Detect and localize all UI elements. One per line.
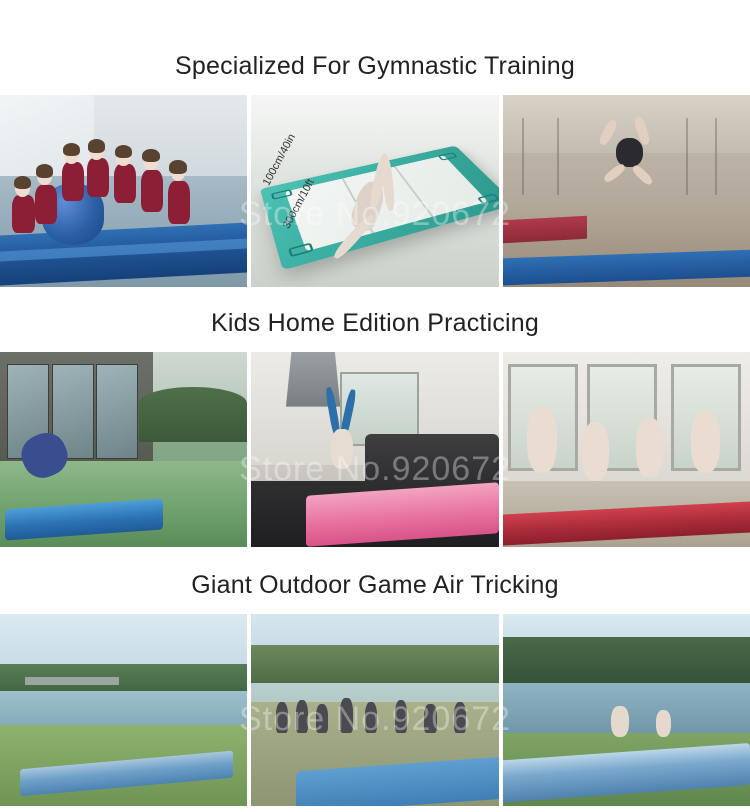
wall-bar [686, 118, 688, 195]
bridge [25, 677, 119, 685]
gymnast-hair [36, 164, 53, 177]
girl-handstand [316, 387, 370, 492]
child-jumping [582, 422, 609, 481]
product-detail-page: Specialized For Gymnastic Training [0, 0, 750, 812]
image-park-crowd-blue-pool [251, 614, 498, 806]
section-title-kids-home-edition: Kids Home Edition Practicing [0, 287, 750, 352]
gymnast-hair [63, 143, 80, 156]
gymnast-leotard [62, 162, 84, 200]
gymnast-hair [14, 176, 31, 189]
wall-bar [522, 118, 524, 195]
image-lakeside-long-airtrack [503, 614, 750, 806]
wall-bar [715, 118, 717, 195]
child-jumping [527, 407, 557, 473]
tree-line [139, 387, 248, 442]
gymnast-leotard [87, 158, 109, 196]
child-jumping [691, 411, 721, 473]
gymnast-hair [142, 149, 159, 162]
athlete-aerial-flip [597, 114, 671, 195]
palm-trees [251, 645, 498, 683]
gymnast-hair [88, 139, 105, 152]
girl-torso [331, 429, 353, 469]
child-jumping [636, 418, 663, 477]
image-row-gymnastic-training: 100cm/40in 300cm/10ft [0, 95, 750, 287]
wall-bar [557, 118, 559, 195]
gymnast-leotard [114, 164, 136, 202]
crowd-person [454, 702, 466, 733]
person-jumping [611, 706, 628, 737]
crowd-person [276, 702, 288, 733]
crowd-person [296, 700, 308, 733]
image-teal-airtrack-dimensions: 100cm/40in 300cm/10ft [251, 95, 498, 287]
image-gym-hall-flip [503, 95, 750, 287]
house-window [96, 364, 138, 460]
athlete-arm [602, 162, 627, 184]
athlete-leg [597, 118, 619, 147]
crowd-person [395, 700, 407, 733]
gymnast-backbend [340, 149, 404, 257]
crowd-person [365, 702, 377, 733]
section-title-giant-outdoor-game: Giant Outdoor Game Air Tricking [0, 547, 750, 614]
red-landing-mat [503, 216, 587, 243]
image-gym-girls-on-blue-airtrack [0, 95, 247, 287]
gymnast-hair [115, 145, 132, 158]
image-living-room-pink-airtrack [251, 352, 498, 547]
gymnast-leotard [12, 195, 34, 233]
gymnast-leg [380, 155, 396, 212]
person-jumping [656, 710, 671, 737]
crowd-person [424, 704, 436, 733]
crowd-person [316, 704, 328, 733]
forest-line [503, 637, 750, 687]
gymnast-leotard [141, 170, 163, 212]
athlete-arm [631, 163, 655, 186]
section-title-gymnastic-training: Specialized For Gymnastic Training [0, 0, 750, 95]
athlete-torso [616, 138, 643, 167]
gymnast-hair [169, 160, 186, 173]
image-row-giant-outdoor-game [0, 614, 750, 806]
airtrack-handle [288, 243, 314, 258]
image-kids-jumping-red-airtrack [503, 352, 750, 547]
image-row-kids-home-edition [0, 352, 750, 547]
image-backyard-grass-blue-airtrack [0, 352, 247, 547]
image-riverside-blue-airtrack [0, 614, 247, 806]
crowd-person [340, 698, 352, 733]
gymnast-leotard [168, 181, 190, 223]
gymnast-leotard [35, 185, 57, 223]
